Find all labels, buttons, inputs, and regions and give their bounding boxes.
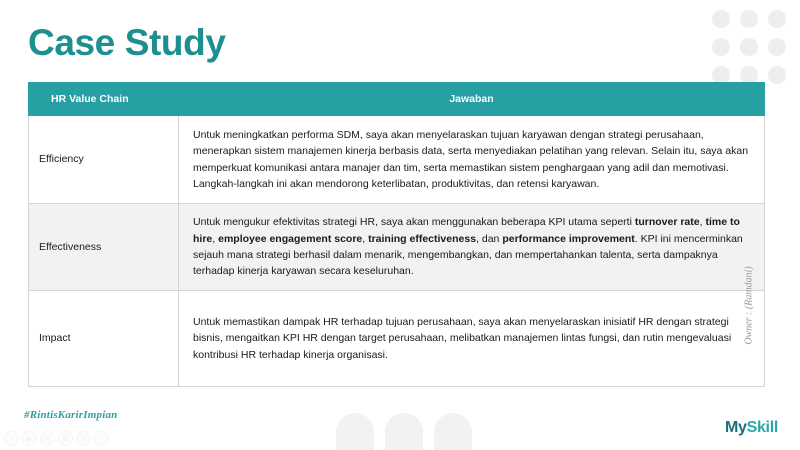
row-answer-effectiveness: Untuk mengukur efektivitas strategi HR, … xyxy=(179,204,765,291)
page-title: Case Study xyxy=(28,22,226,64)
row-label-impact: Impact xyxy=(29,291,179,387)
decorative-dot xyxy=(768,10,786,28)
decorative-dot xyxy=(712,38,730,56)
case-study-table: HR Value Chain Jawaban Efficiency Untuk … xyxy=(28,82,765,387)
table-body: Efficiency Untuk meningkatkan performa S… xyxy=(29,116,765,387)
table-header: HR Value Chain Jawaban xyxy=(29,83,765,116)
search-icon[interactable]: ⚲ xyxy=(76,431,91,446)
back-icon[interactable]: ‹ xyxy=(4,431,19,446)
decorative-dot xyxy=(740,38,758,56)
pencil-icon[interactable]: ✐ xyxy=(40,431,55,446)
play-icon[interactable]: ▶ xyxy=(22,431,37,446)
decorative-dot xyxy=(740,10,758,28)
copy-icon[interactable]: ⧉ xyxy=(58,431,73,446)
column-header-jawaban: Jawaban xyxy=(179,83,765,116)
decorative-dot-grid xyxy=(712,10,786,84)
footer-hashtag: #RintisKarirImpian xyxy=(24,409,117,421)
decorative-dot xyxy=(768,38,786,56)
decorative-arch xyxy=(385,413,423,450)
row-label-effectiveness: Effectiveness xyxy=(29,204,179,291)
brand-logo-part-my: My xyxy=(725,419,747,436)
column-header-hr-value-chain: HR Value Chain xyxy=(29,83,179,116)
row-answer-efficiency: Untuk meningkatkan performa SDM, saya ak… xyxy=(179,116,765,204)
brand-logo-myskill: MySkill xyxy=(725,419,778,437)
decorative-arch xyxy=(434,413,472,450)
row-answer-impact: Untuk memastikan dampak HR terhadap tuju… xyxy=(179,291,765,387)
slide-canvas: Case Study HR Value Chain Jawaban Effici… xyxy=(0,0,800,450)
footer-social-icons: ‹ ▶ ✐ ⧉ ⚲ − xyxy=(4,431,109,446)
table-row: Impact Untuk memastikan dampak HR terhad… xyxy=(29,291,765,387)
row-label-efficiency: Efficiency xyxy=(29,116,179,204)
table-row: Effectiveness Untuk mengukur efektivitas… xyxy=(29,204,765,291)
minus-icon[interactable]: − xyxy=(94,431,109,446)
table-row: Efficiency Untuk meningkatkan performa S… xyxy=(29,116,765,204)
case-study-table-wrapper: HR Value Chain Jawaban Efficiency Untuk … xyxy=(28,82,765,387)
decorative-dot xyxy=(768,66,786,84)
owner-note: Owner : (Ramdani) xyxy=(744,241,755,371)
decorative-dot xyxy=(712,10,730,28)
brand-logo-part-skill: Skill xyxy=(747,419,778,436)
decorative-arch xyxy=(336,413,374,450)
table-header-row: HR Value Chain Jawaban xyxy=(29,83,765,116)
decorative-arches xyxy=(336,413,472,450)
